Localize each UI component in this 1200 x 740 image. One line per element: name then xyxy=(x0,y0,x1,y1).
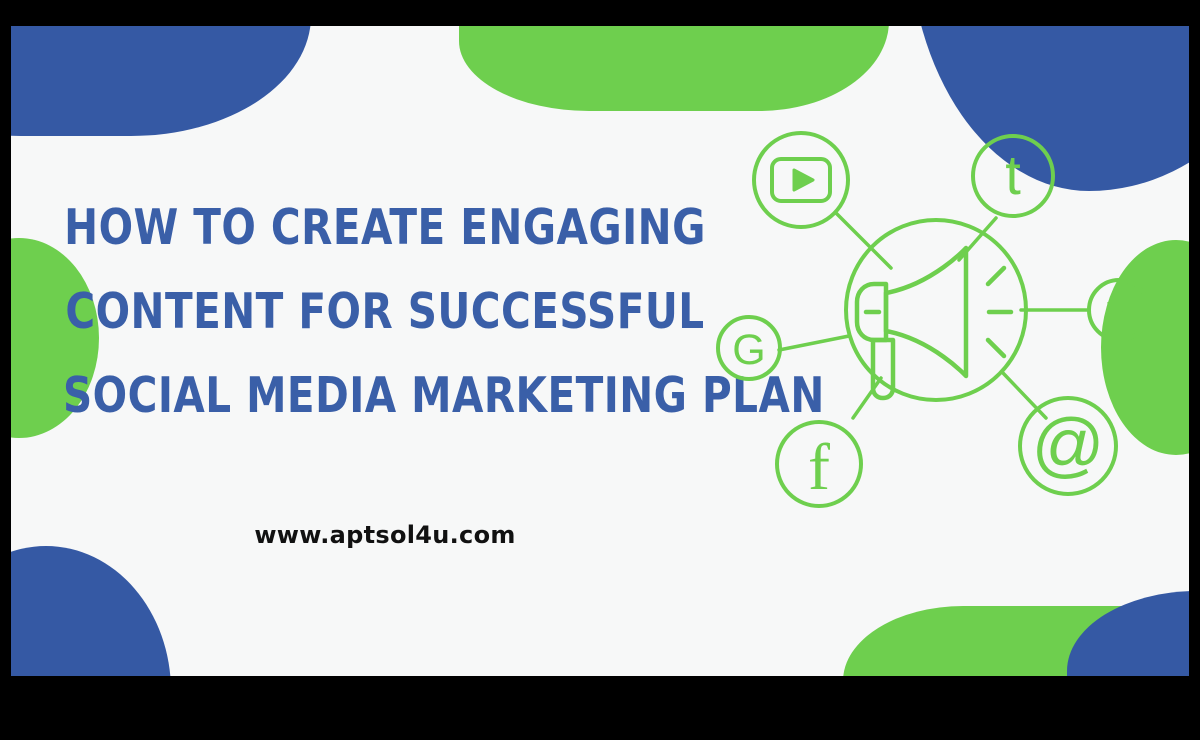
page-title: HOW TO CREATE ENGAGING CONTENT FOR SUCCE… xyxy=(35,186,735,438)
connector-google xyxy=(779,336,849,350)
facebook-glyph: f xyxy=(808,431,830,504)
email-at-icon: @ xyxy=(1031,405,1104,485)
node-email[interactable]: @ xyxy=(1020,398,1116,494)
youtube-play-triangle xyxy=(794,170,813,190)
decor-blob-bottom-left xyxy=(11,546,171,676)
connector-lines xyxy=(779,213,1089,418)
decor-blob-bottom-right xyxy=(1067,591,1189,676)
decor-blob-bottom-center xyxy=(843,606,1189,676)
node-youtube[interactable] xyxy=(754,133,848,227)
node-tumblr[interactable]: t xyxy=(973,136,1053,216)
node-linkedin[interactable]: in xyxy=(1089,280,1149,340)
decor-blob-top-left xyxy=(11,26,311,136)
slide-canvas: HOW TO CREATE ENGAGING CONTENT FOR SUCCE… xyxy=(0,0,1200,740)
tumblr-glyph: t xyxy=(1005,143,1021,206)
sound-wave-bottom xyxy=(988,340,1004,356)
title-line-2: CONTENT FOR SUCCESSFUL xyxy=(63,270,707,354)
sound-wave-top xyxy=(988,268,1004,284)
node-google[interactable]: G xyxy=(718,317,780,379)
slide-surface: HOW TO CREATE ENGAGING CONTENT FOR SUCCE… xyxy=(11,26,1189,676)
title-line-3: SOCIAL MEDIA MARKETING PLAN xyxy=(63,354,707,438)
linkedin-glyph: in xyxy=(1105,296,1133,331)
social-media-network-illustration: t in @ f xyxy=(701,88,1171,518)
google-glyph: G xyxy=(732,326,765,374)
title-line-1: HOW TO CREATE ENGAGING xyxy=(63,186,707,270)
website-url: www.aptsol4u.com xyxy=(35,521,735,549)
megaphone-icon xyxy=(857,248,1011,398)
node-facebook[interactable]: f xyxy=(777,422,861,506)
